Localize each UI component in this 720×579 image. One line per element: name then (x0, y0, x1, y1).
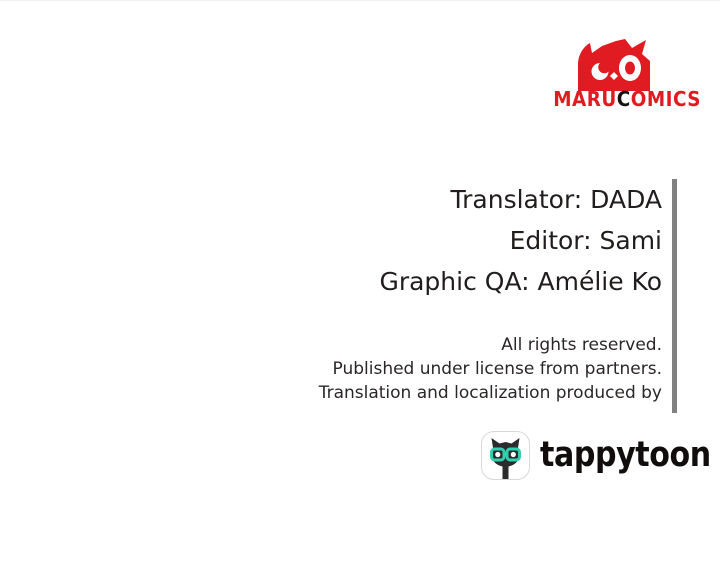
maru-comics-logo: MARUCOMICS (548, 39, 680, 117)
owl-head-icon (572, 39, 656, 91)
maru-owl-mark (548, 39, 680, 91)
vertical-divider-bar (672, 179, 677, 413)
maru-wordmark-maru: MARU (553, 87, 617, 111)
maru-comics-wordmark: MARUCOMICS (553, 89, 674, 109)
rights-line-translation: Translation and localization produced by (180, 381, 662, 405)
tappytoon-wordmark: tappytoon (540, 438, 711, 473)
credits-page: MARUCOMICS Translator: DADA Editor: Sami… (0, 0, 720, 579)
tappytoon-mascot-badge (481, 431, 530, 480)
credits-block: Translator: DADA Editor: Sami Graphic QA… (180, 179, 662, 302)
rights-line-published: Published under license from partners. (180, 357, 662, 381)
rights-notice-block: All rights reserved. Published under lic… (180, 333, 662, 405)
rights-line-all-rights: All rights reserved. (180, 333, 662, 357)
tappytoon-logo: tappytoon (481, 429, 677, 481)
credit-line-graphic-qa: Graphic QA: Amélie Ko (180, 261, 662, 302)
maru-wordmark-c: C (617, 87, 631, 111)
credit-line-editor: Editor: Sami (180, 220, 662, 261)
cat-with-glasses-icon (482, 432, 529, 479)
credit-line-translator: Translator: DADA (180, 179, 662, 220)
maru-wordmark-omics: OMICS (631, 87, 701, 111)
